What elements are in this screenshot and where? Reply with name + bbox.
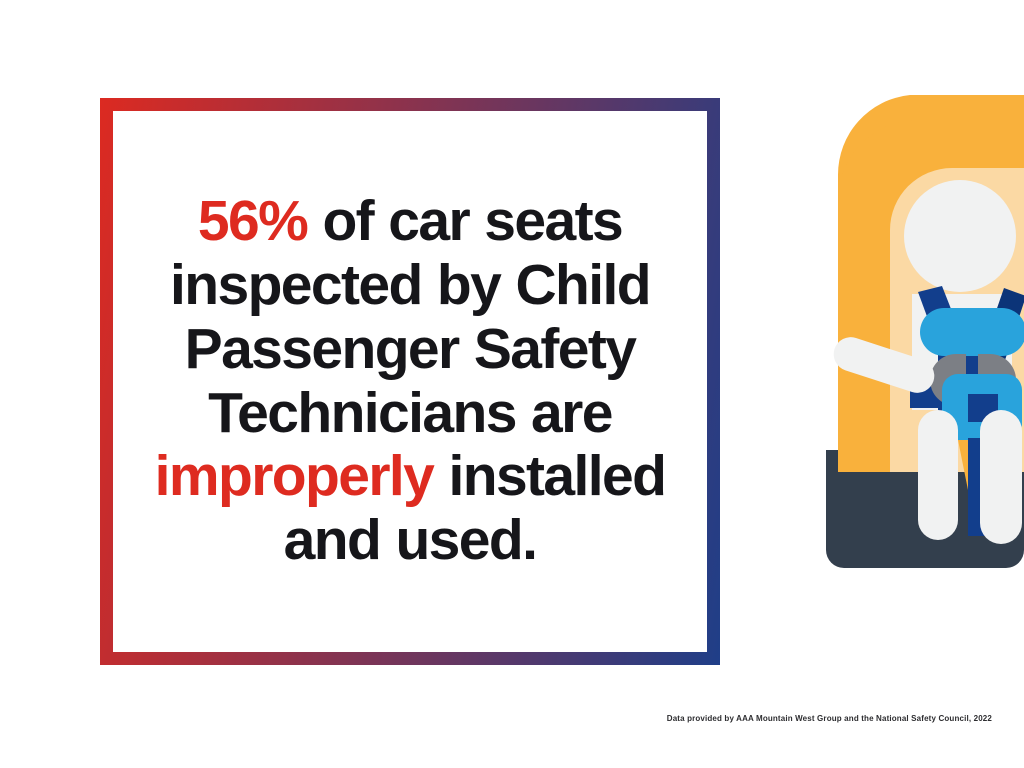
statistic-percent: 56% [198,189,307,253]
child-car-seat-illustration [790,80,1024,640]
child-head-shape [904,180,1016,292]
infographic-slide: 56% of car seats inspected by Child Pass… [0,0,1024,768]
source-note: Data provided by AAA Mountain West Group… [0,714,992,723]
statistic-line6: and used. [284,508,537,572]
statistic-line5-rest: installed [433,444,665,508]
statistic-frame: 56% of car seats inspected by Child Pass… [100,98,720,665]
statistic-line4: Technicians are [208,381,612,445]
harness-chest-clip [920,308,1024,356]
statistic-frame-inner: 56% of car seats inspected by Child Pass… [113,111,707,652]
statistic-line3: Passenger Safety [185,317,636,381]
statistic-line2: inspected by Child [170,253,650,317]
statistic-emphasis: improperly [155,444,434,508]
statistic-text: 56% of car seats inspected by Child Pass… [129,190,692,573]
statistic-line1-rest: of car seats [307,189,622,253]
